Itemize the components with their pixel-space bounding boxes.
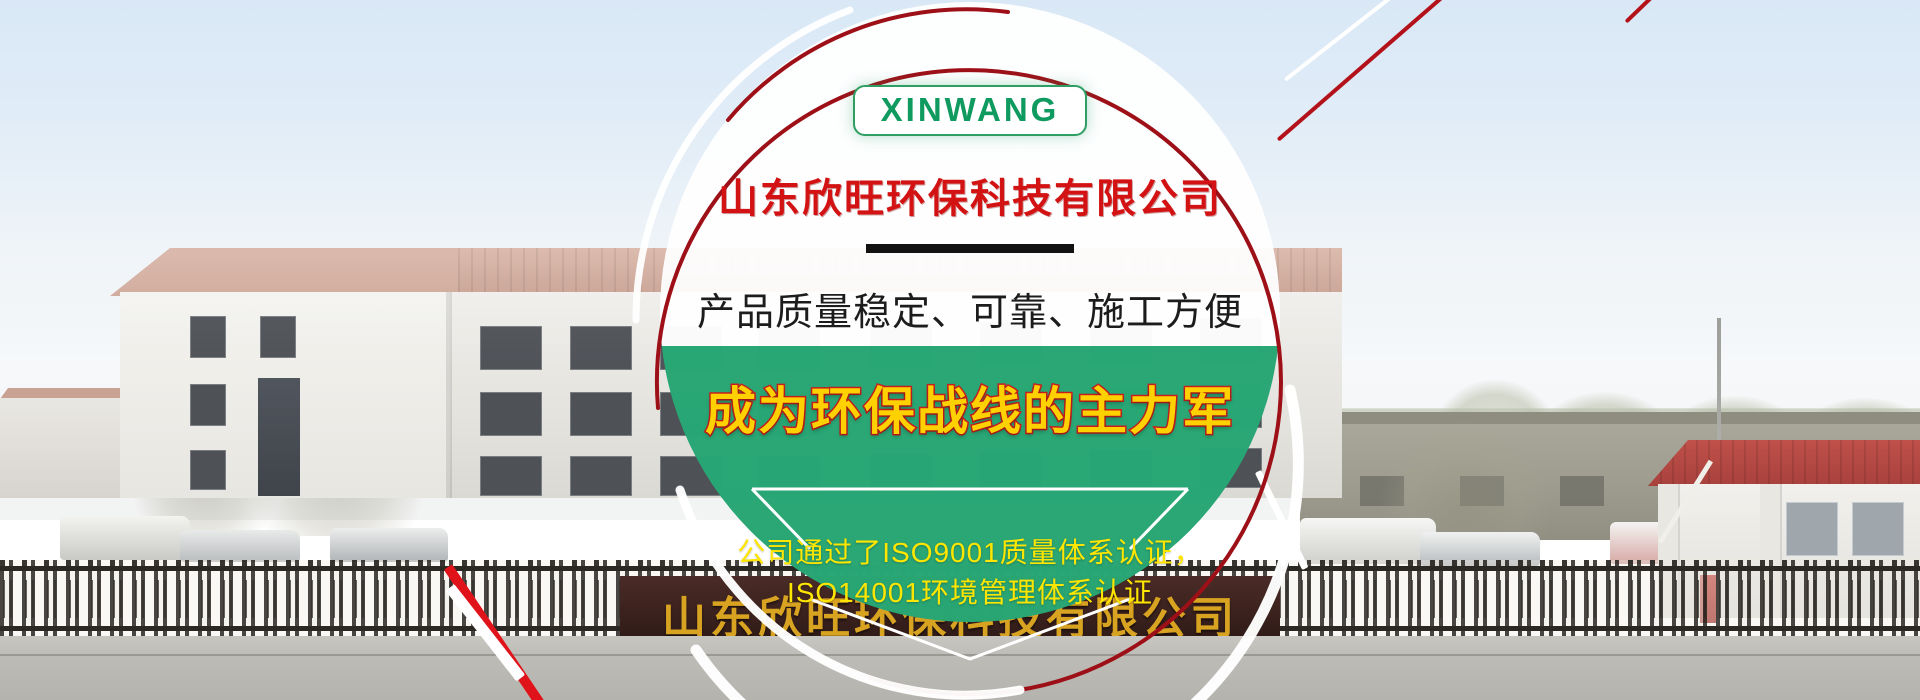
brand-badge-label: XINWANG — [881, 93, 1060, 126]
company-name: 山东欣旺环保科技有限公司 — [718, 166, 1222, 224]
certification-line-1: 公司通过了ISO9001质量体系认证， — [600, 533, 1340, 573]
brand-badge: XINWANG — [853, 85, 1088, 136]
certification-text: 公司通过了ISO9001质量体系认证， ISO14001环境管理体系认证 — [600, 533, 1340, 613]
certification-line-2: ISO14001环境管理体系认证 — [600, 573, 1340, 613]
divider-rule — [866, 244, 1074, 253]
promo-banner: 山东欣旺环保科技有限公司 — [0, 0, 1920, 700]
main-headline: 成为环保战线的主力军 — [705, 370, 1235, 444]
circular-content-panel: XINWANG 山东欣旺环保科技有限公司 产品质量稳定、可靠、施工方便 成为环保… — [600, 0, 1340, 700]
product-slogan: 产品质量稳定、可靠、施工方便 — [697, 281, 1243, 336]
